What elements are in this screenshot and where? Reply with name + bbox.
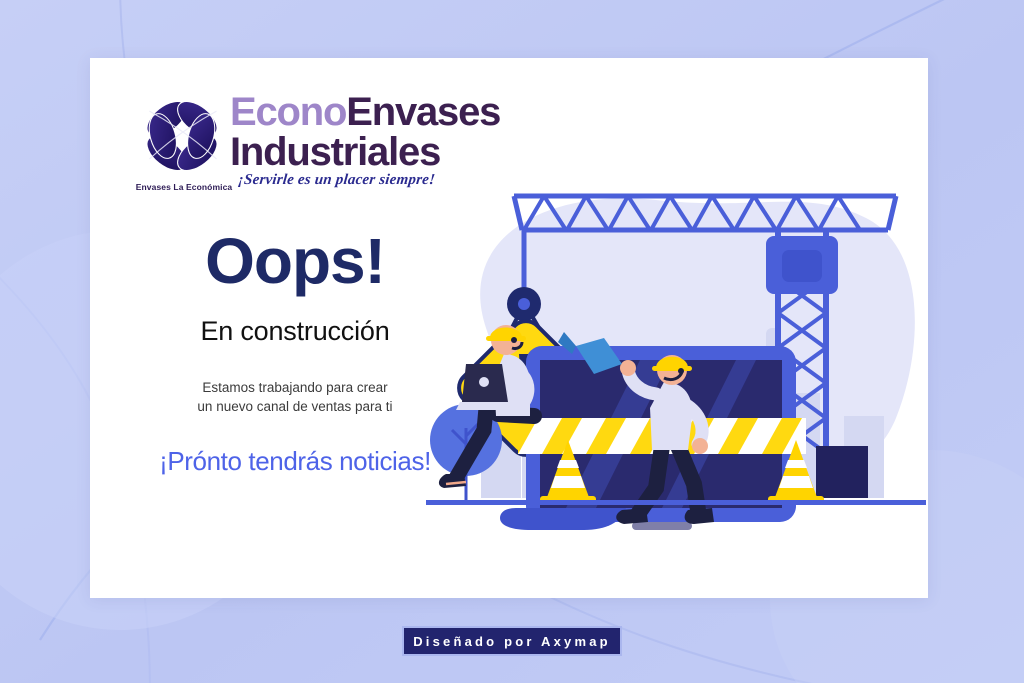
description-text: Estamos trabajando para crear un nuevo c… (130, 378, 460, 416)
logo-word-envases: Envases (346, 90, 500, 134)
content-card: Envases La Económica EconoEnvases Indust… (90, 58, 928, 598)
logo-tagline: ¡Servirle es un placer siempre! (237, 172, 436, 189)
designer-credit-text: Diseñado por Axymap (413, 634, 611, 649)
page-root: Envases La Económica EconoEnvases Indust… (0, 0, 1024, 683)
logo-subtitle: Envases La Económica (134, 182, 234, 192)
page-title: Oops! (130, 228, 460, 294)
description-line-1: Estamos trabajando para crear (130, 378, 460, 397)
under-construction-illustration (426, 178, 926, 538)
logo-wordmark: EconoEnvases Industriales (230, 92, 500, 172)
logo-word-econo: Econo (230, 90, 346, 134)
debris-bin (816, 446, 868, 498)
promise-text: ¡Prónto tendrás noticias! (130, 446, 460, 476)
ground-line (426, 500, 926, 505)
econoenvases-knot-icon (134, 90, 230, 182)
message-block: Oops! En construcción Estamos trabajando… (130, 228, 460, 476)
logo-word-industriales: Industriales (230, 132, 500, 172)
logo-line-1: EconoEnvases (230, 92, 500, 132)
description-line-2: un nuevo canal de ventas para ti (130, 397, 460, 416)
page-subtitle: En construcción (130, 316, 460, 346)
designer-credit-badge[interactable]: Diseñado por Axymap (402, 626, 622, 656)
